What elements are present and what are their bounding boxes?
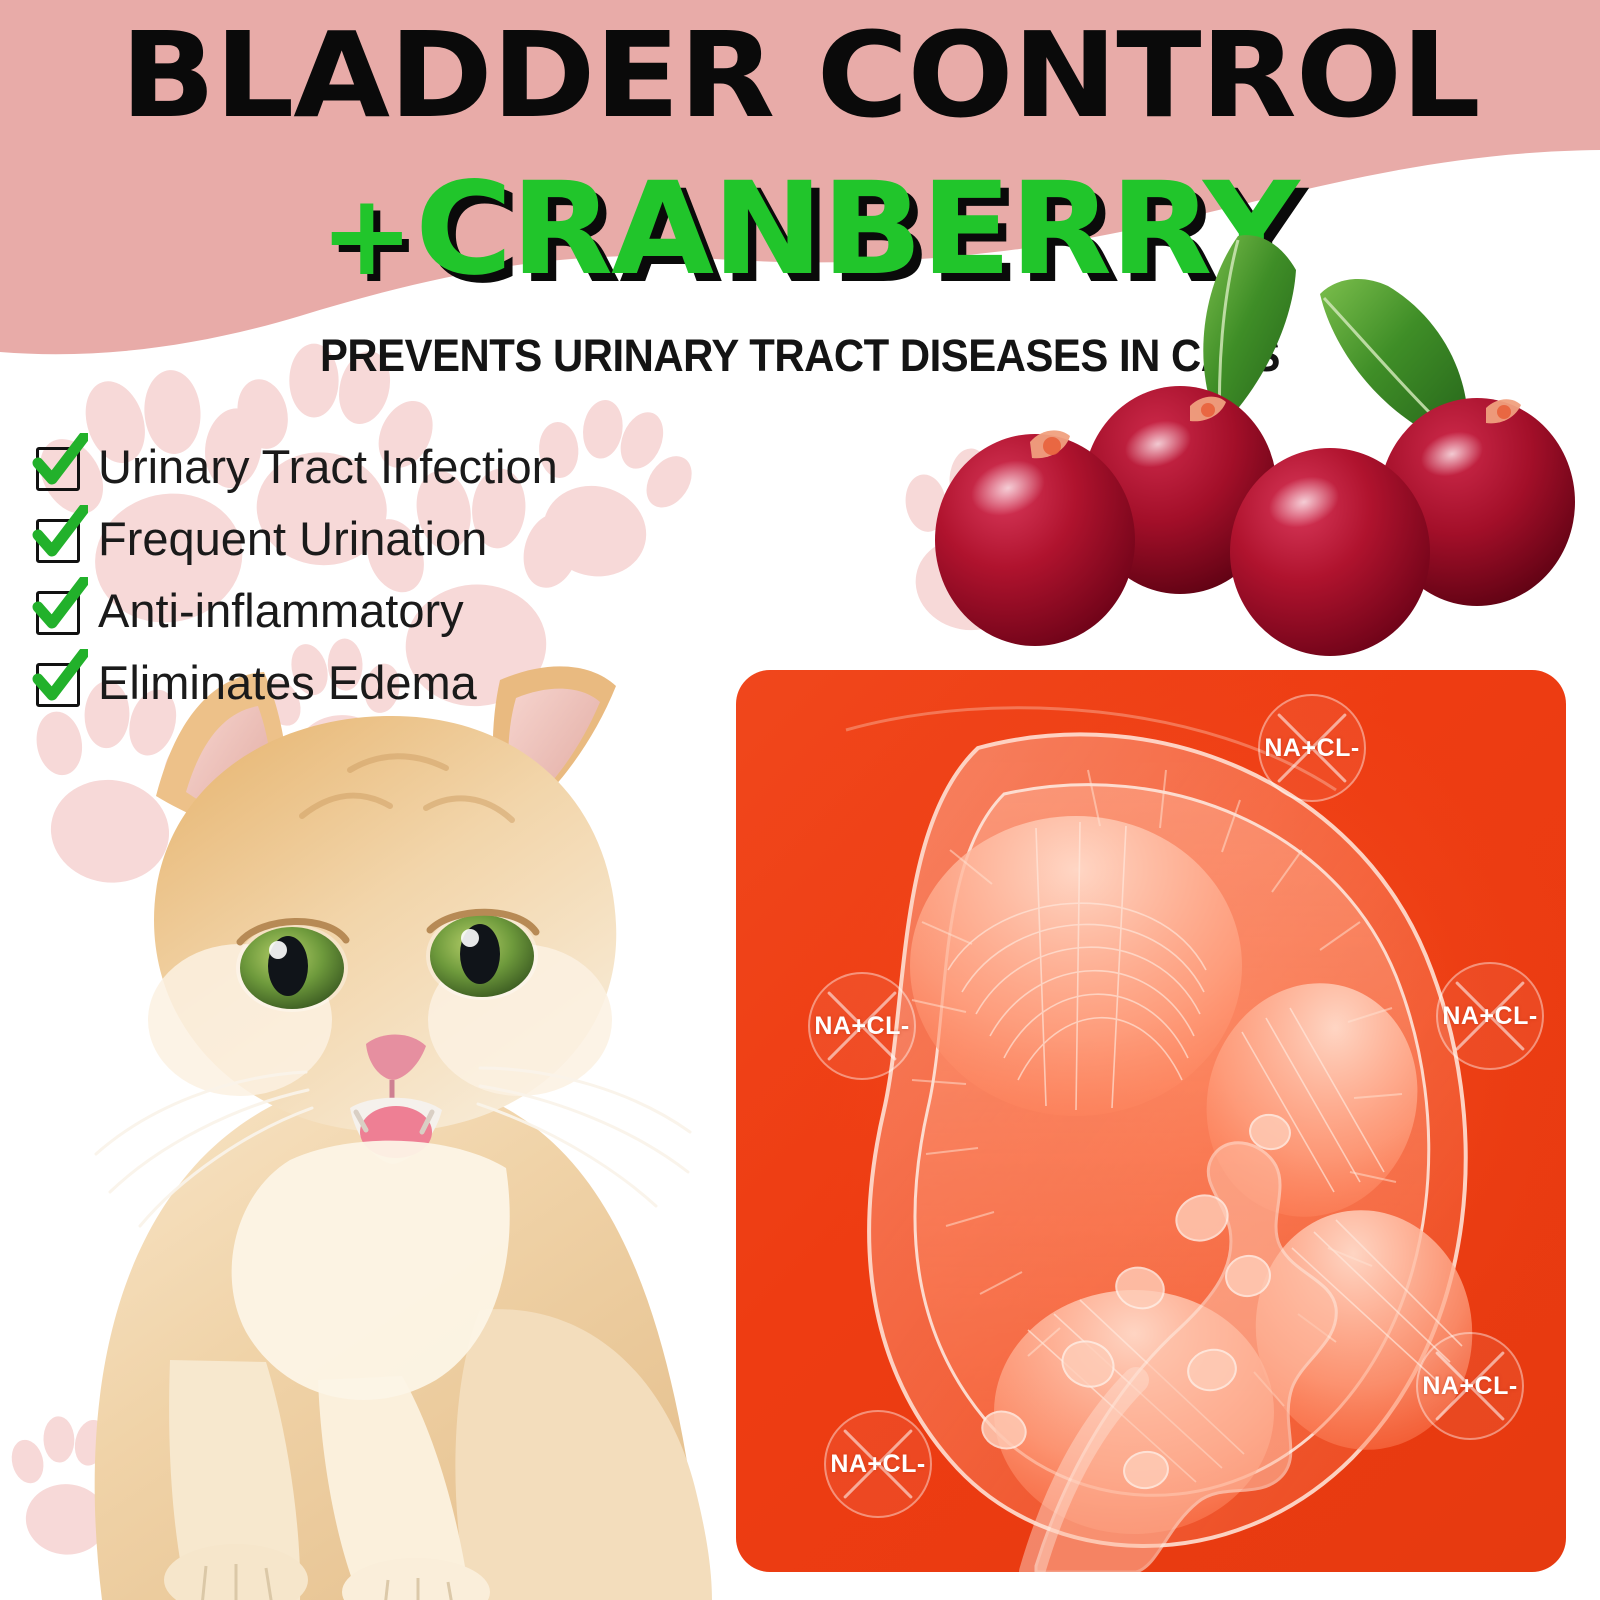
cat-haunch bbox=[455, 1309, 712, 1600]
no-salt-circle-x-icon: NA+CL- bbox=[1416, 1332, 1524, 1440]
benefit-item-1: Frequent Urination bbox=[30, 502, 710, 574]
no-salt-circle-x-icon: NA+CL- bbox=[1258, 694, 1366, 802]
poster-canvas: BLADDER CONTROL + CRANBERRY PREVENTS URI… bbox=[0, 0, 1600, 1600]
checkbox-checked-icon bbox=[30, 653, 88, 711]
page-title-line1: BLADDER CONTROL bbox=[0, 16, 1600, 134]
cat-photo bbox=[50, 620, 810, 1600]
checkbox-checked-icon bbox=[30, 509, 88, 567]
nacl-label: NA+CL- bbox=[1442, 1002, 1537, 1031]
kidney-illustration-panel: NA+CL-NA+CL-NA+CL-NA+CL-NA+CL- bbox=[736, 670, 1566, 1572]
cranberry-cluster bbox=[900, 230, 1600, 670]
benefit-label: Frequent Urination bbox=[98, 515, 487, 562]
benefit-label: Eliminates Edema bbox=[98, 659, 477, 706]
nacl-label: NA+CL- bbox=[1264, 734, 1359, 763]
no-salt-circle-x-icon: NA+CL- bbox=[1436, 962, 1544, 1070]
checkbox-checked-icon bbox=[30, 581, 88, 639]
checkbox-checked-icon bbox=[30, 437, 88, 495]
benefits-checklist: Urinary Tract Infection Frequent Urinati… bbox=[30, 430, 710, 718]
nacl-label: NA+CL- bbox=[1422, 1372, 1517, 1401]
benefit-item-0: Urinary Tract Infection bbox=[30, 430, 710, 502]
no-salt-circle-x-icon: NA+CL- bbox=[808, 972, 916, 1080]
nacl-label: NA+CL- bbox=[830, 1450, 925, 1479]
benefit-item-3: Eliminates Edema bbox=[30, 646, 710, 718]
benefit-label: Urinary Tract Infection bbox=[98, 443, 558, 490]
plus-icon: + bbox=[320, 180, 414, 292]
benefit-label: Anti-inflammatory bbox=[98, 587, 464, 634]
cranberry-berry-3 bbox=[1230, 448, 1430, 656]
nacl-label: NA+CL- bbox=[814, 1012, 909, 1041]
no-salt-circle-x-icon: NA+CL- bbox=[824, 1410, 932, 1518]
benefit-item-2: Anti-inflammatory bbox=[30, 574, 710, 646]
cat-eye-right bbox=[426, 912, 538, 1000]
